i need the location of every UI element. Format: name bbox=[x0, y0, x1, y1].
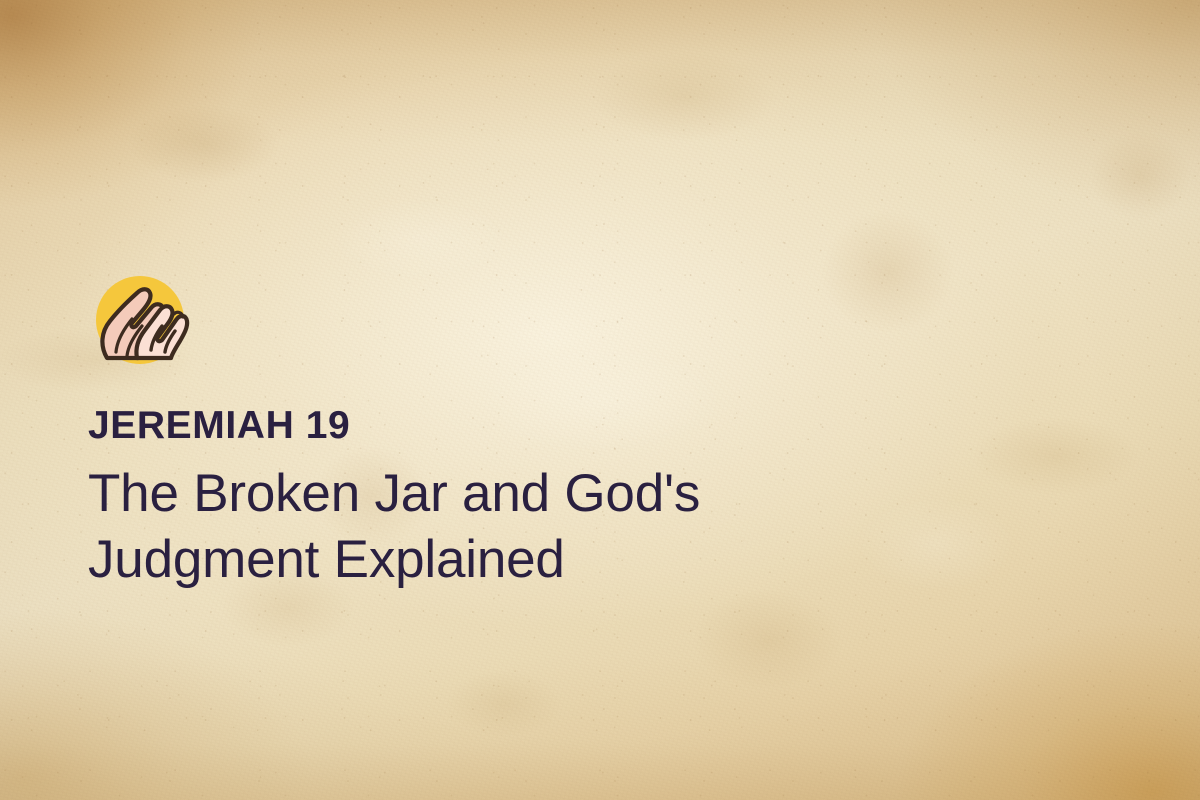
card-content: JEREMIAH 19 The Broken Jar and God's Jud… bbox=[88, 262, 1088, 594]
praying-hands-icon bbox=[88, 262, 200, 374]
chapter-kicker: JEREMIAH 19 bbox=[88, 406, 1088, 447]
scripture-title-card: JEREMIAH 19 The Broken Jar and God's Jud… bbox=[0, 0, 1200, 800]
page-title: The Broken Jar and God's Judgment Explai… bbox=[88, 461, 888, 595]
